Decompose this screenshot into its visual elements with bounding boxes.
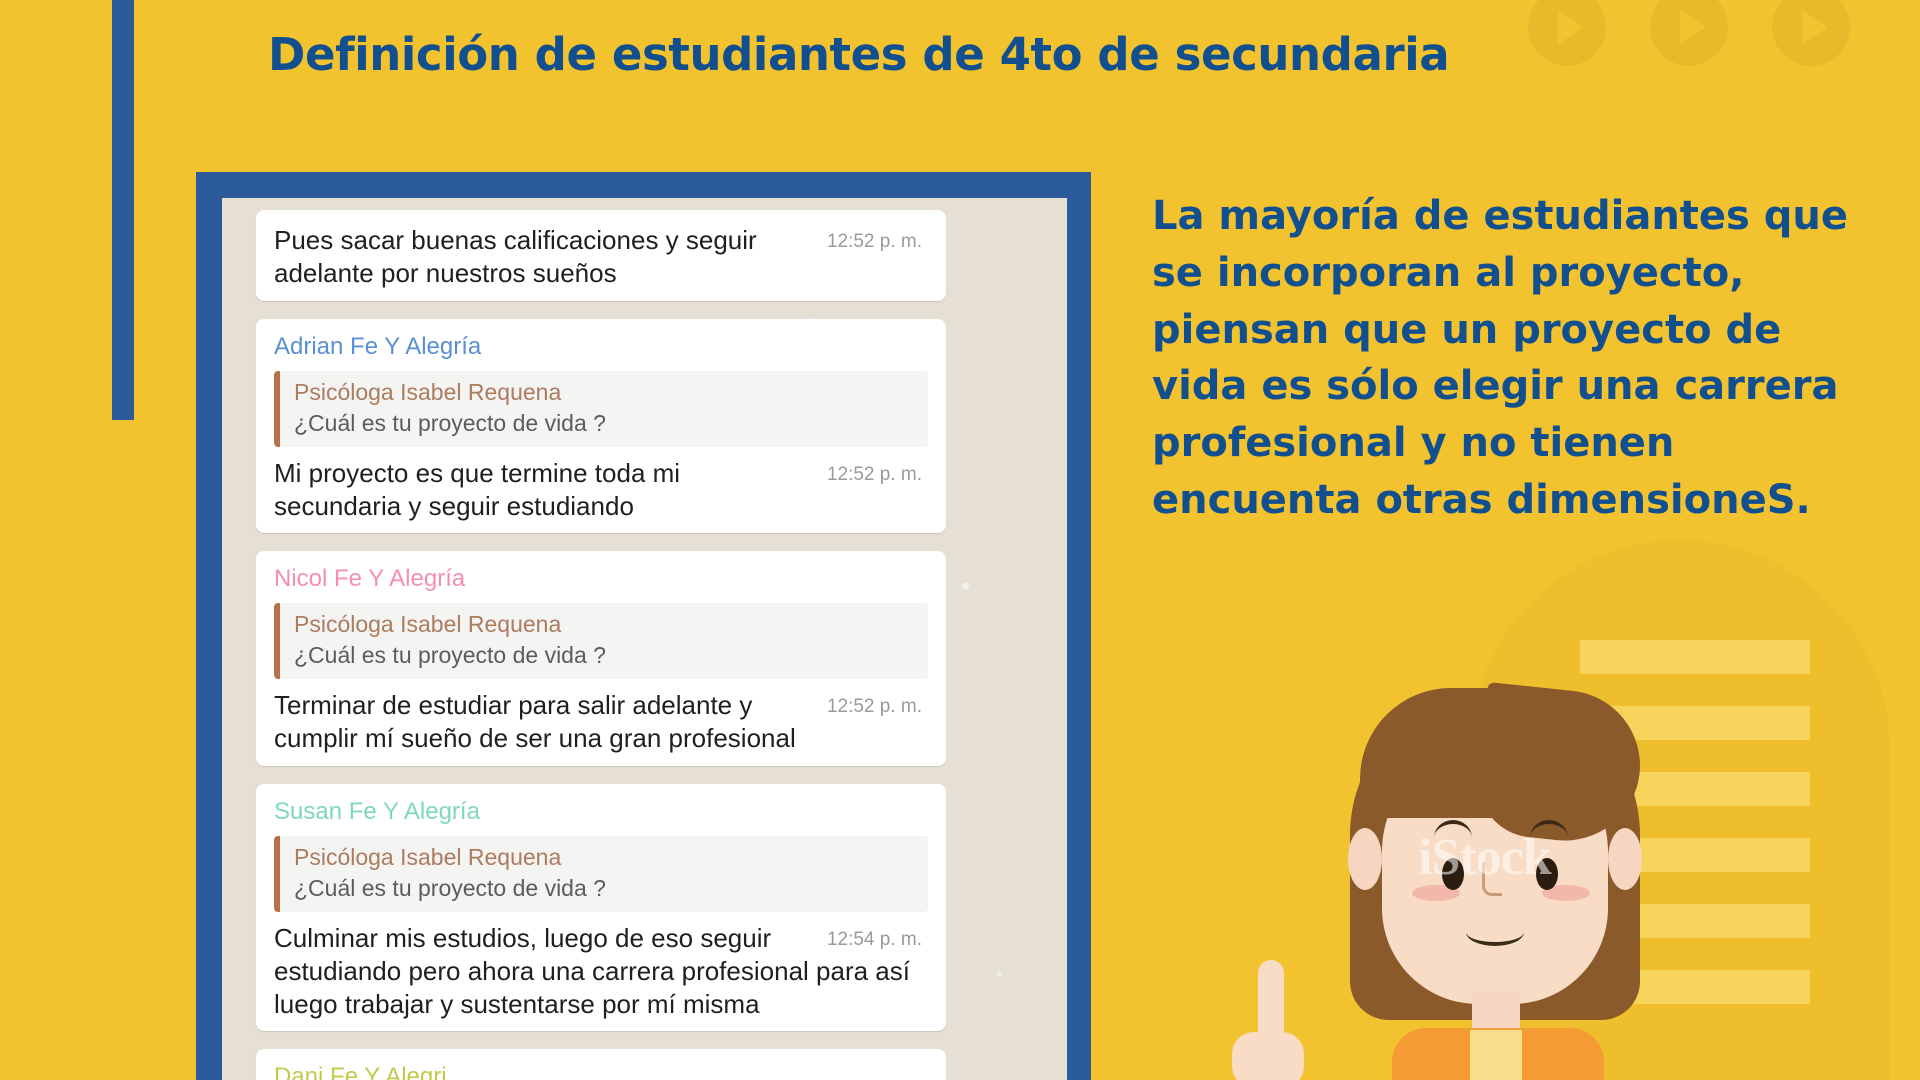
message-timestamp: 12:52 p. m. bbox=[827, 695, 922, 719]
message-text: 12:52 p. m.Mi proyecto es que termine to… bbox=[274, 457, 928, 524]
quoted-message-text: ¿Cuál es tu proyecto de vida ? bbox=[294, 410, 916, 437]
chat-message: Adrian Fe Y Alegría Psicóloga Isabel Req… bbox=[256, 319, 946, 534]
message-sender-name: Dani Fe Y Alegri bbox=[274, 1063, 928, 1080]
left-accent-bar bbox=[112, 0, 134, 420]
quoted-sender-name: Psicóloga Isabel Requena bbox=[294, 611, 916, 638]
message-sender-name: Adrian Fe Y Alegría bbox=[274, 333, 928, 361]
istock-watermark: iStock bbox=[1418, 828, 1551, 887]
chat-screenshot-frame: 12:52 p. m.Pues sacar buenas calificacio… bbox=[196, 172, 1091, 1080]
mouth bbox=[1466, 918, 1524, 946]
message-text: 12:54 p. m.Culminar mis estudios, luego … bbox=[274, 922, 928, 1022]
background-stripe bbox=[1580, 640, 1810, 674]
collar bbox=[1470, 1030, 1522, 1080]
message-sender-name: Susan Fe Y Alegría bbox=[274, 798, 928, 826]
message-text: 12:52 p. m.Terminar de estudiar para sal… bbox=[274, 689, 928, 756]
ear-left bbox=[1348, 828, 1382, 890]
chat-message: Susan Fe Y Alegría Psicóloga Isabel Requ… bbox=[256, 784, 946, 1032]
chat-message: Nicol Fe Y Alegría Psicóloga Isabel Requ… bbox=[256, 551, 946, 766]
message-timestamp: 12:52 p. m. bbox=[827, 463, 922, 487]
message-sender-name: Nicol Fe Y Alegría bbox=[274, 565, 928, 593]
play-icon bbox=[1650, 0, 1728, 66]
quoted-message-text: ¿Cuál es tu proyecto de vida ? bbox=[294, 642, 916, 669]
message-timestamp: 12:52 p. m. bbox=[827, 230, 922, 254]
girl-illustration: iStock bbox=[1330, 680, 1690, 1080]
page-title: Definición de estudiantes de 4to de secu… bbox=[268, 28, 1449, 81]
quoted-sender-name: Psicóloga Isabel Requena bbox=[294, 379, 916, 406]
quoted-message-text: ¿Cuál es tu proyecto de vida ? bbox=[294, 875, 916, 902]
chat-message: Dani Fe Y Alegri bbox=[256, 1049, 946, 1080]
chat-message: 12:52 p. m.Pues sacar buenas calificacio… bbox=[256, 210, 946, 301]
quoted-sender-name: Psicóloga Isabel Requena bbox=[294, 844, 916, 871]
play-icon bbox=[1528, 0, 1606, 66]
quoted-reply[interactable]: Psicóloga Isabel Requena ¿Cuál es tu pro… bbox=[274, 603, 928, 679]
chat-message-list[interactable]: 12:52 p. m.Pues sacar buenas calificacio… bbox=[222, 198, 1067, 1080]
ear-right bbox=[1608, 828, 1642, 890]
quoted-reply[interactable]: Psicóloga Isabel Requena ¿Cuál es tu pro… bbox=[274, 836, 928, 912]
quoted-reply[interactable]: Psicóloga Isabel Requena ¿Cuál es tu pro… bbox=[274, 371, 928, 447]
fist bbox=[1232, 1032, 1304, 1080]
pointing-hand-icon bbox=[1232, 960, 1312, 1080]
body-paragraph: La mayoría de estudiantes que se incorpo… bbox=[1152, 188, 1852, 529]
message-text: 12:52 p. m.Pues sacar buenas calificacio… bbox=[274, 224, 928, 291]
play-icon bbox=[1772, 0, 1850, 66]
message-timestamp: 12:54 p. m. bbox=[827, 928, 922, 952]
